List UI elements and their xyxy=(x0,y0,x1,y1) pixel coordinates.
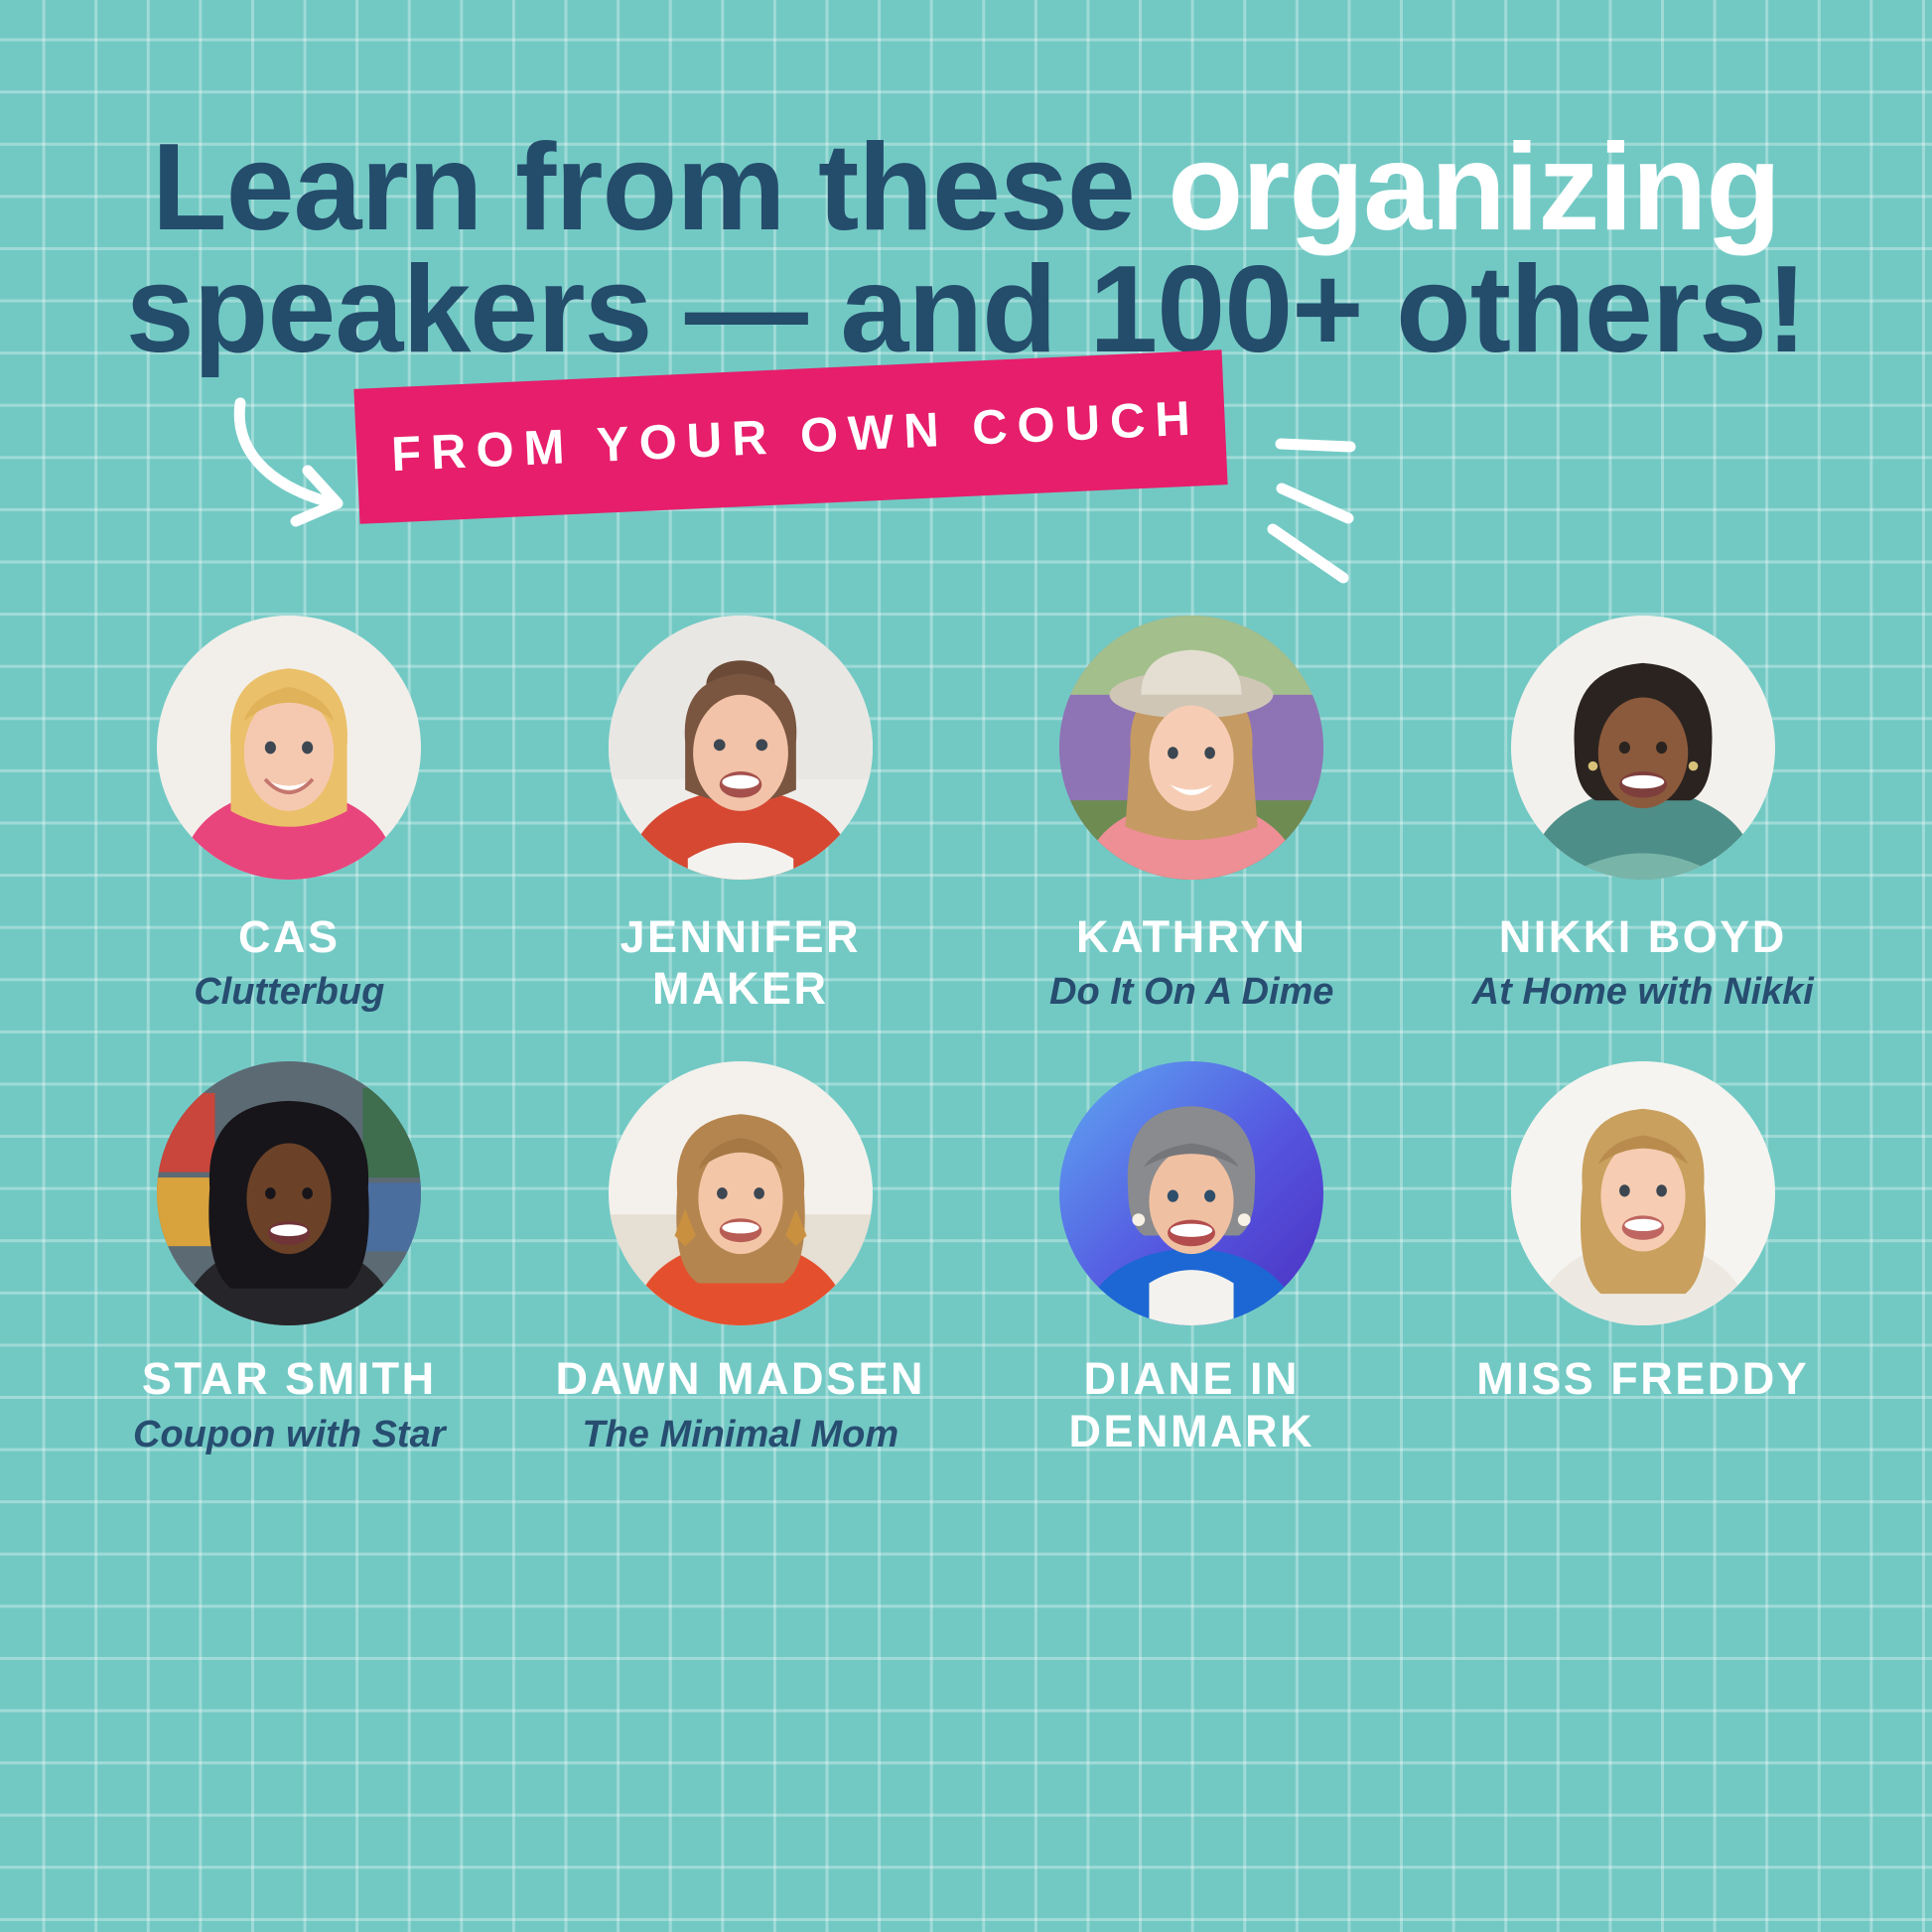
speed-lines-icon xyxy=(1239,409,1438,598)
portrait-diane-in-denmark xyxy=(1059,1061,1323,1325)
headline-line-1-plain: Learn from these xyxy=(152,119,1169,256)
portrait-jennifer-maker xyxy=(609,616,873,880)
speaker-nameblock: NIKKI BOYD At Home with Nikki xyxy=(1472,911,1814,1016)
speaker-nameblock: MISS FREDDY xyxy=(1476,1353,1809,1412)
speaker-name: MISS FREDDY xyxy=(1476,1353,1809,1405)
speaker-card-jennifer-maker[interactable]: JENNIFER MAKER xyxy=(515,616,967,1022)
speaker-subtitle: At Home with Nikki xyxy=(1472,970,1814,1016)
page-title: Learn from these organizing speakers — a… xyxy=(0,127,1932,371)
speaker-nameblock: JENNIFER MAKER xyxy=(620,911,861,1022)
speaker-card-cas[interactable]: CAS Clutterbug xyxy=(64,616,515,1022)
speaker-name: KATHRYN xyxy=(1049,911,1333,963)
speaker-nameblock: KATHRYN Do It On A Dime xyxy=(1049,911,1333,1016)
portrait-nikki-boyd xyxy=(1511,616,1775,880)
speaker-nameblock: DIANE IN DENMARK xyxy=(1069,1353,1315,1463)
speaker-subtitle: The Minimal Mom xyxy=(556,1413,926,1458)
portrait-kathryn xyxy=(1059,616,1323,880)
speaker-card-nikki-boyd[interactable]: NIKKI BOYD At Home with Nikki xyxy=(1418,616,1869,1022)
speaker-nameblock: CAS Clutterbug xyxy=(194,911,384,1016)
headline-highlight-word: organizing xyxy=(1168,119,1780,256)
speaker-name: STAR SMITH xyxy=(133,1353,446,1405)
speaker-card-miss-freddy[interactable]: MISS FREDDY xyxy=(1418,1061,1869,1463)
speaker-subtitle: Clutterbug xyxy=(194,970,384,1016)
portrait-cas xyxy=(157,616,421,880)
speaker-card-diane-in-denmark[interactable]: DIANE IN DENMARK xyxy=(966,1061,1418,1463)
speaker-subtitle: Coupon with Star xyxy=(133,1413,446,1458)
portrait-miss-freddy xyxy=(1511,1061,1775,1325)
speaker-name: DAWN MADSEN xyxy=(556,1353,926,1405)
speaker-card-star-smith[interactable]: STAR SMITH Coupon with Star xyxy=(64,1061,515,1463)
speaker-name: CAS xyxy=(194,911,384,963)
speaker-subtitle: Do It On A Dime xyxy=(1049,970,1333,1016)
speaker-nameblock: DAWN MADSEN The Minimal Mom xyxy=(556,1353,926,1457)
speaker-name: DIANE IN DENMARK xyxy=(1069,1353,1315,1456)
speaker-card-dawn-madsen[interactable]: DAWN MADSEN The Minimal Mom xyxy=(515,1061,967,1463)
portrait-star-smith xyxy=(157,1061,421,1325)
promo-poster: Learn from these organizing speakers — a… xyxy=(0,0,1932,1932)
headline-line-1: Learn from these organizing xyxy=(0,127,1932,249)
speaker-grid: CAS Clutterbug xyxy=(64,616,1868,1464)
banner-label: FROM YOUR OWN COUCH xyxy=(380,390,1201,483)
speaker-card-kathryn[interactable]: KATHRYN Do It On A Dime xyxy=(966,616,1418,1022)
portrait-dawn-madsen xyxy=(609,1061,873,1325)
headline-line-2: speakers — and 100+ others! xyxy=(0,249,1932,371)
speaker-name: JENNIFER MAKER xyxy=(620,911,861,1015)
speaker-nameblock: STAR SMITH Coupon with Star xyxy=(133,1353,446,1457)
speaker-name: NIKKI BOYD xyxy=(1472,911,1814,963)
